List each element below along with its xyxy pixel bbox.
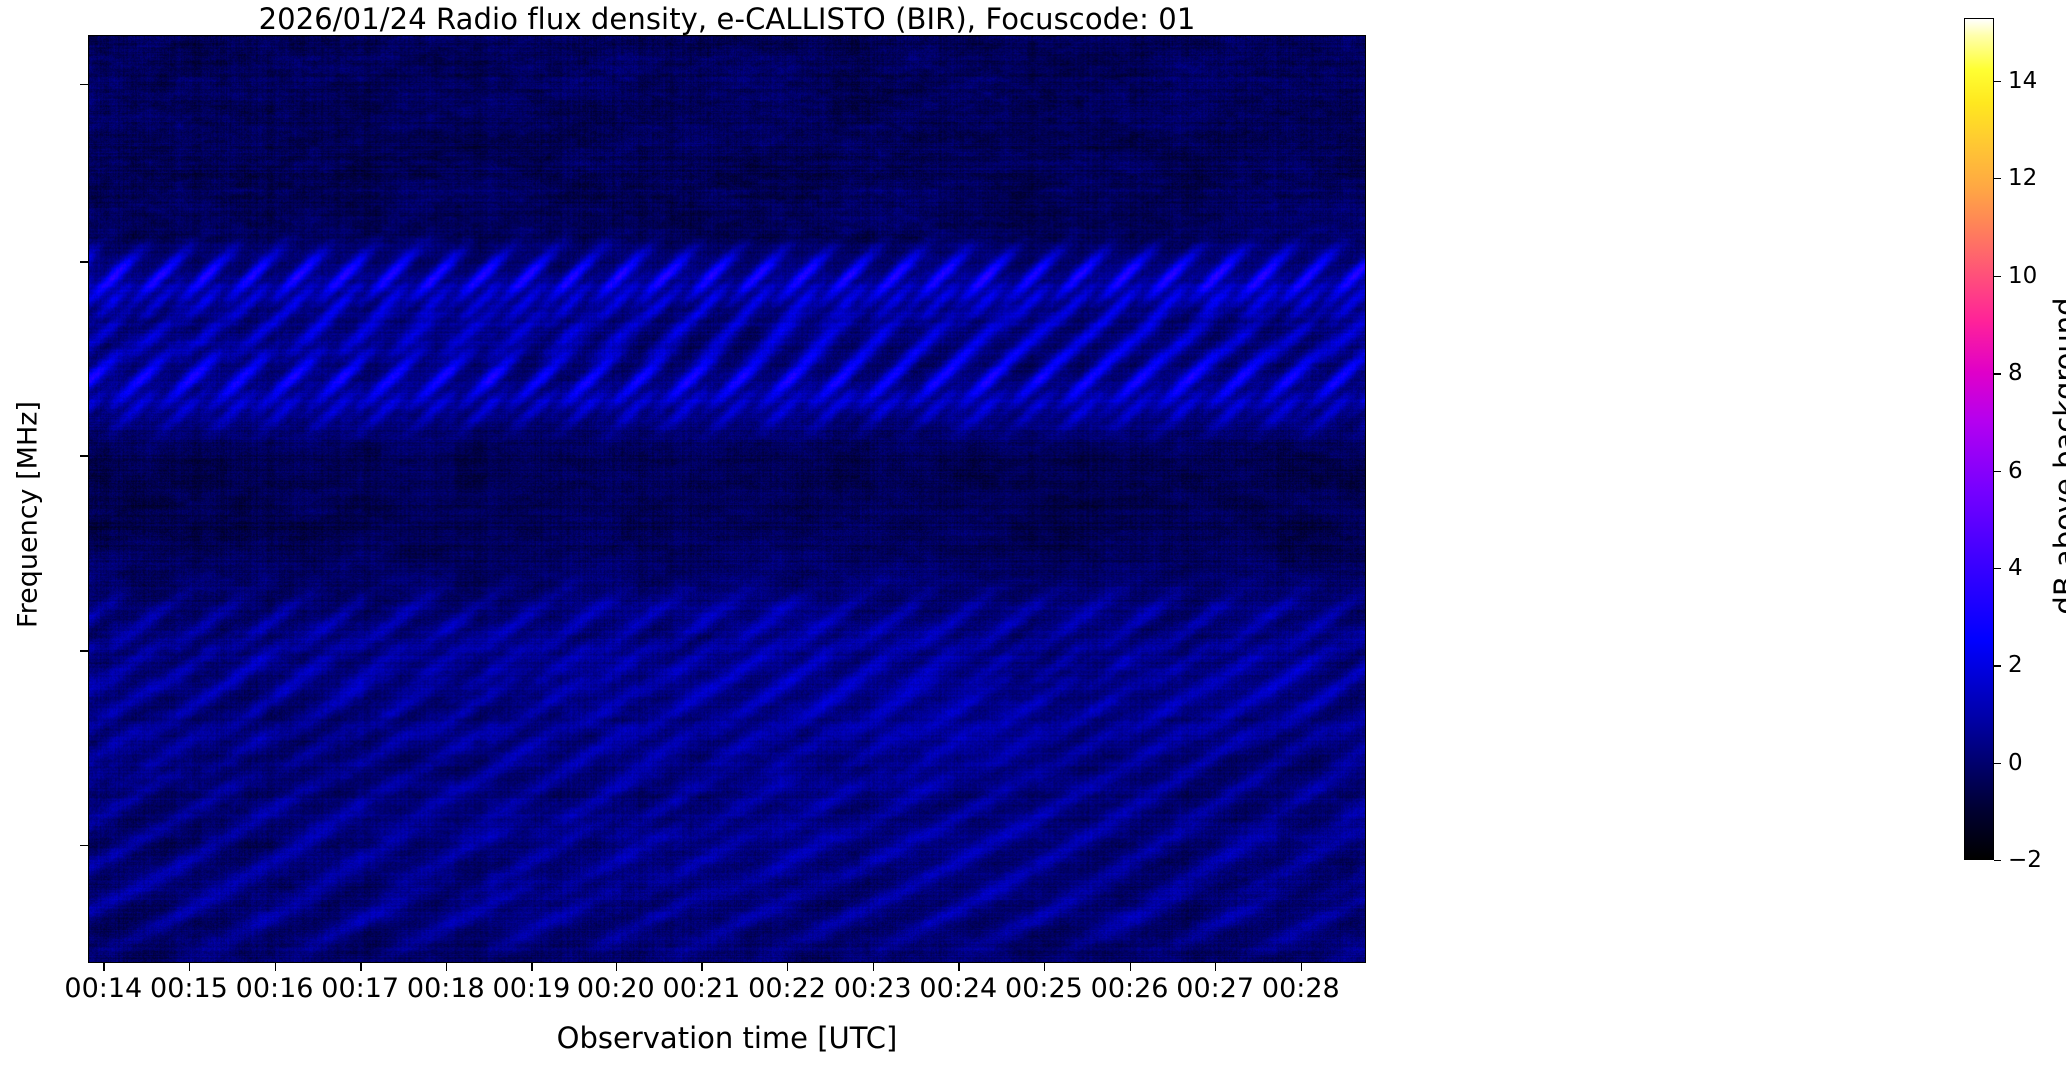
x-tick-mark xyxy=(701,963,702,971)
y-axis-label: Frequency [MHz] xyxy=(13,275,44,755)
x-tick-label: 00:21 xyxy=(663,973,741,1004)
colorbar-tick-label: 6 xyxy=(2008,458,2023,484)
x-tick-mark xyxy=(873,963,874,971)
colorbar-tick-mark xyxy=(1994,178,2001,179)
x-tick-label: 00:22 xyxy=(748,973,826,1004)
colorbar-tick-label: 10 xyxy=(2008,263,2037,289)
x-axis-label: Observation time [UTC] xyxy=(88,1021,1366,1055)
colorbar-label: dB above background xyxy=(2048,206,2066,706)
y-tick-mark xyxy=(80,261,88,262)
x-tick-label: 00:15 xyxy=(150,973,228,1004)
colorbar-tick-mark xyxy=(1994,568,2001,569)
x-tick-label: 00:27 xyxy=(1176,973,1254,1004)
x-tick-label: 00:28 xyxy=(1262,973,1340,1004)
colorbar-tick-label: 0 xyxy=(2008,750,2023,776)
x-tick-mark xyxy=(787,963,788,971)
colorbar-tick-mark xyxy=(1994,763,2001,764)
x-tick-label: 00:24 xyxy=(919,973,997,1004)
colorbar-tick-mark xyxy=(1994,81,2001,82)
x-tick-label: 00:14 xyxy=(64,973,142,1004)
y-tick-mark xyxy=(80,455,88,456)
colorbar-tick-label: 14 xyxy=(2008,68,2037,94)
colorbar-tick-label: 4 xyxy=(2008,555,2023,581)
x-tick-mark xyxy=(446,963,447,971)
x-tick-label: 00:25 xyxy=(1005,973,1083,1004)
colorbar-tick-label: 8 xyxy=(2008,360,2023,386)
x-tick-mark xyxy=(103,963,104,971)
colorbar-tick-mark xyxy=(1994,471,2001,472)
x-tick-label: 00:17 xyxy=(321,973,399,1004)
x-tick-mark xyxy=(1215,963,1216,971)
colorbar[interactable] xyxy=(1964,18,1994,860)
colorbar-tick-mark xyxy=(1994,860,2001,861)
x-tick-label: 00:26 xyxy=(1091,973,1169,1004)
colorbar-tick-label: 12 xyxy=(2008,165,2037,191)
x-tick-mark xyxy=(360,963,361,971)
x-tick-mark xyxy=(1044,963,1045,971)
x-tick-mark xyxy=(616,963,617,971)
spectrogram-figure: 2026/01/24 Radio flux density, e-CALLIST… xyxy=(0,0,2066,1067)
x-tick-mark xyxy=(531,963,532,971)
y-tick-mark xyxy=(80,650,88,651)
x-tick-mark xyxy=(1130,963,1131,971)
page-title: 2026/01/24 Radio flux density, e-CALLIST… xyxy=(88,2,1366,36)
colorbar-tick-label: −2 xyxy=(2008,847,2042,873)
colorbar-gradient xyxy=(1965,19,1993,859)
x-tick-mark xyxy=(1301,963,1302,971)
colorbar-tick-mark xyxy=(1994,276,2001,277)
colorbar-tick-mark xyxy=(1994,665,2001,666)
y-tick-mark xyxy=(80,84,88,85)
x-tick-label: 00:19 xyxy=(493,973,571,1004)
x-tick-label: 00:20 xyxy=(577,973,655,1004)
colorbar-tick-mark xyxy=(1994,373,2001,374)
x-tick-label: 00:18 xyxy=(407,973,485,1004)
x-tick-label: 00:16 xyxy=(236,973,314,1004)
y-tick-mark xyxy=(80,845,88,846)
x-tick-mark xyxy=(189,963,190,971)
x-tick-label: 00:23 xyxy=(834,973,912,1004)
x-tick-mark xyxy=(958,963,959,971)
spectrogram-heatmap xyxy=(89,36,1365,962)
plot-axes[interactable] xyxy=(88,35,1366,963)
colorbar-tick-label: 2 xyxy=(2008,652,2023,678)
x-tick-mark xyxy=(275,963,276,971)
